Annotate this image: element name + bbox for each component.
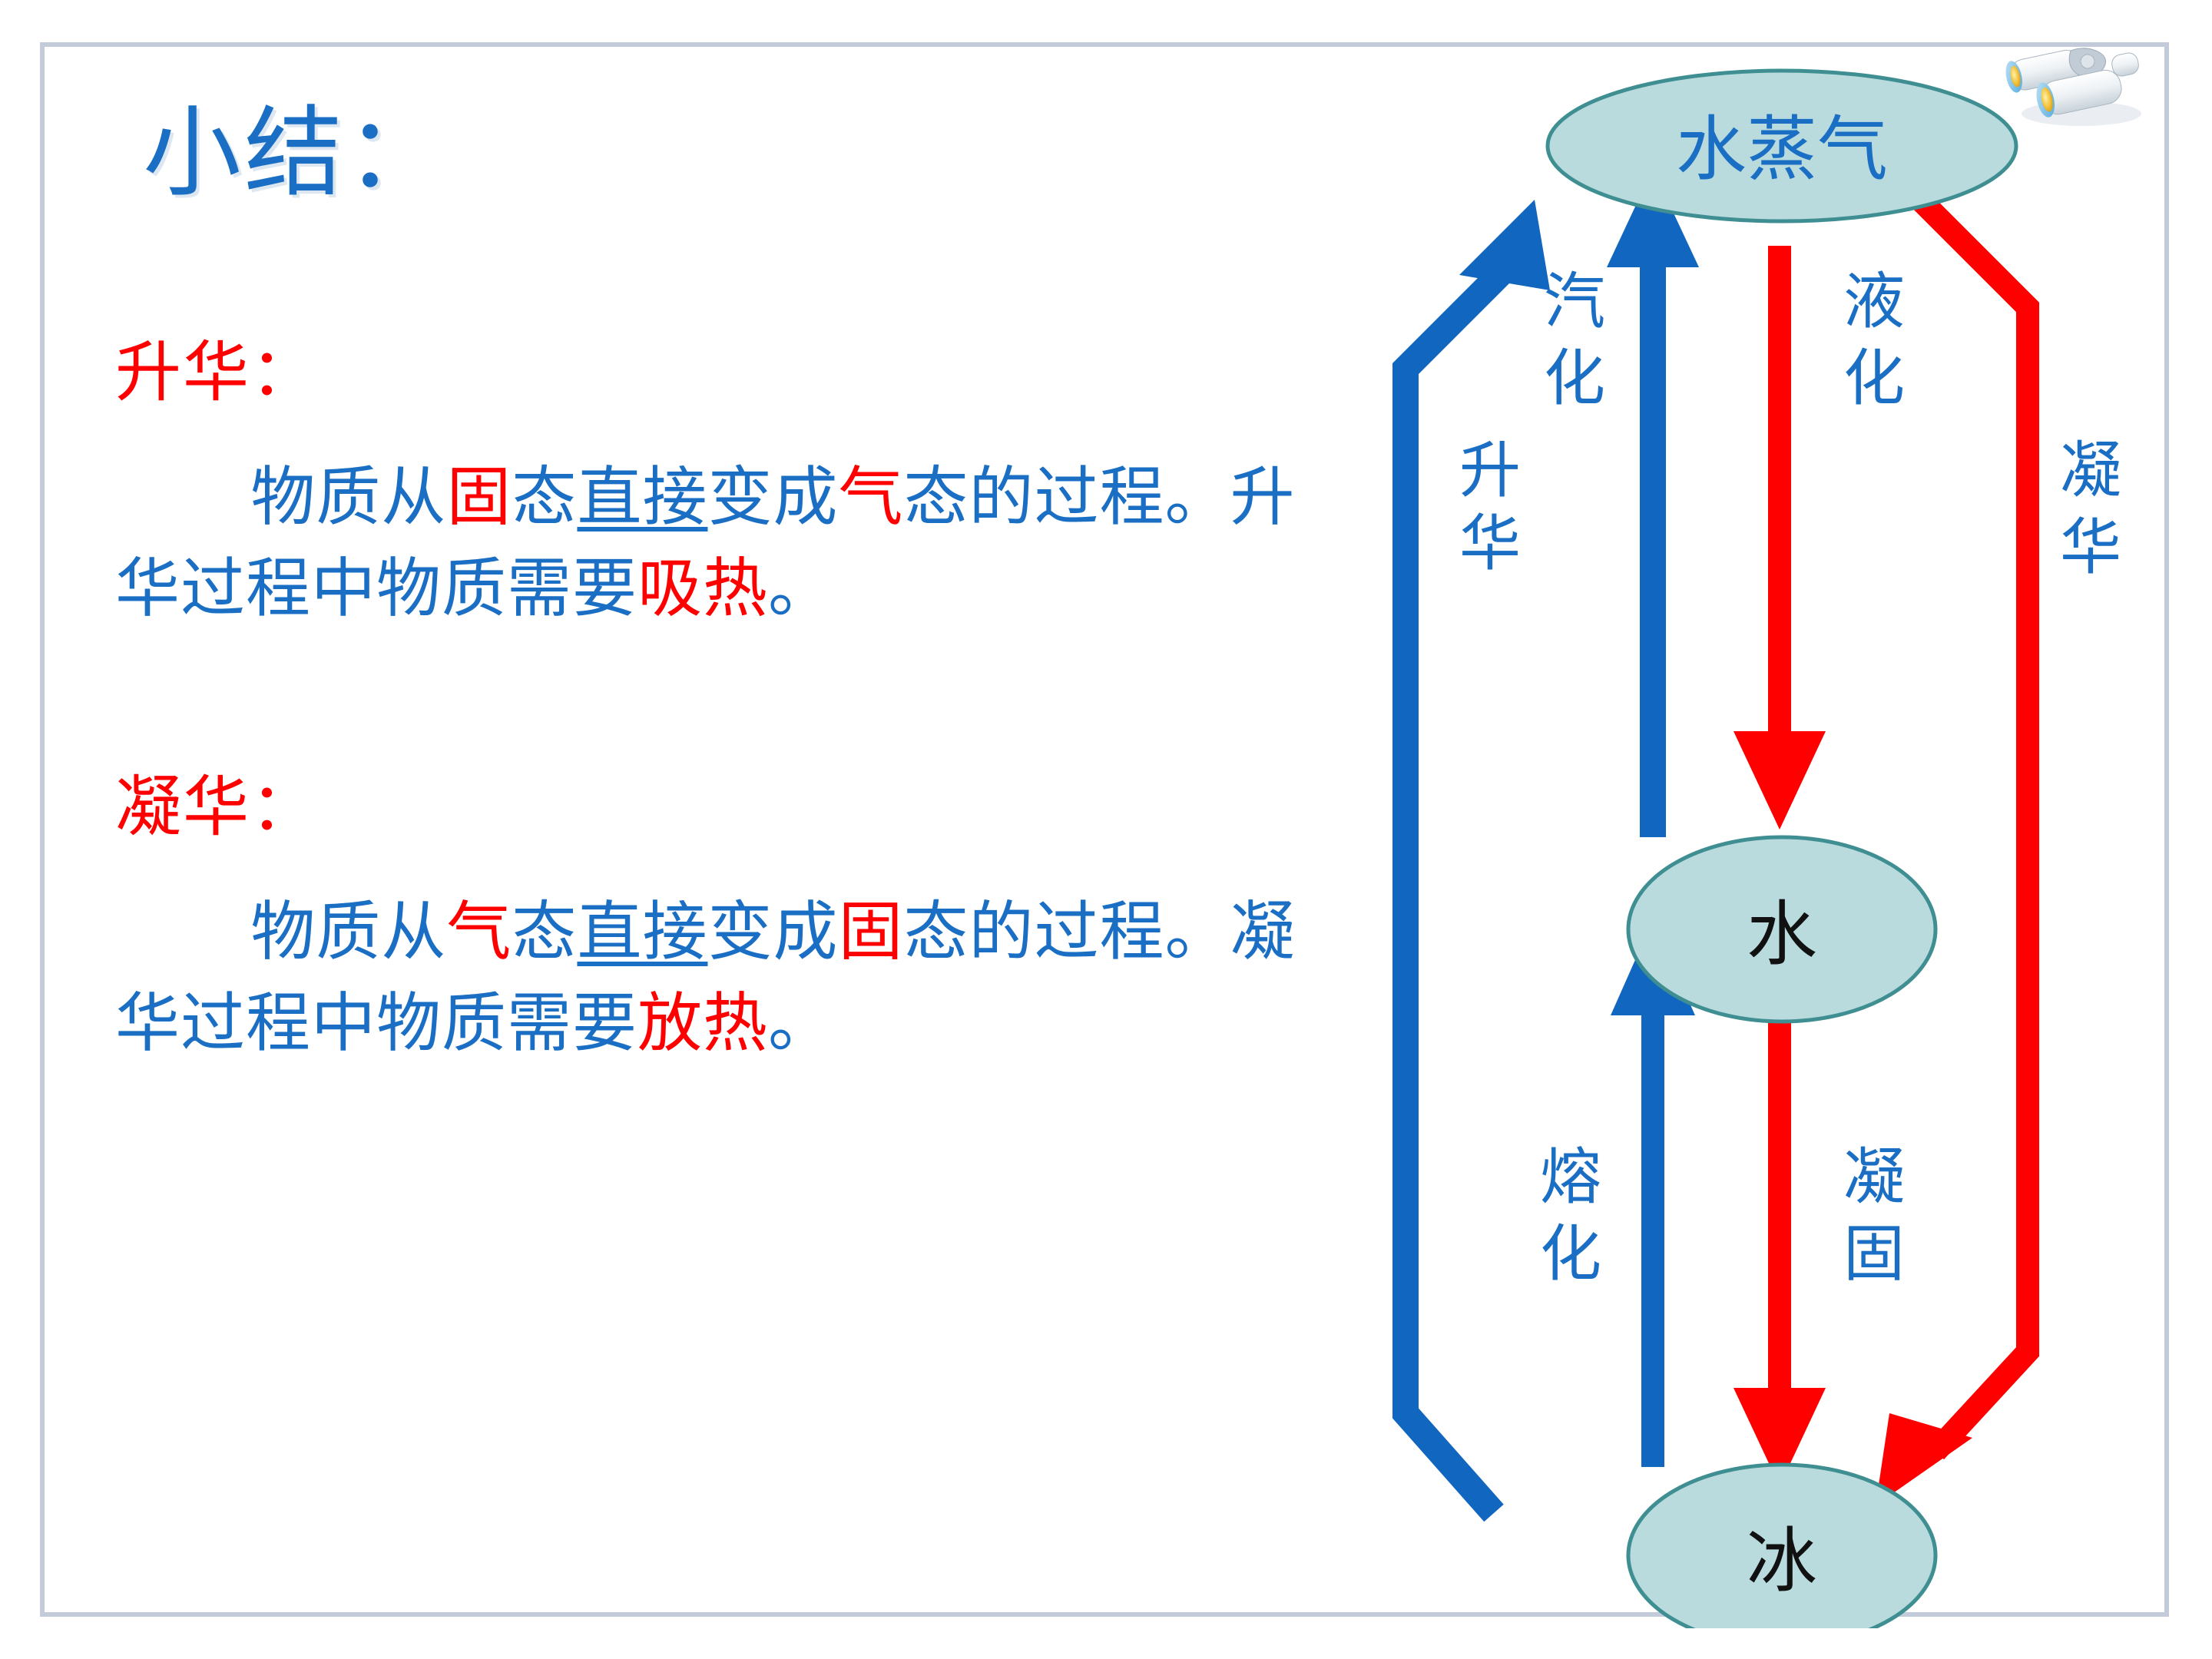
edge-label-deposition-char2: 华 [2060, 512, 2121, 583]
edge-label-melting-char1: 熔 [1540, 1141, 1601, 1213]
edge-label-solidification: 凝 固 [1843, 1141, 1905, 1290]
text-content-column: 小结： 升华： 物质从固态直接变成气态的过程。升华过程中物质需要吸热。 凝华： … [115, 92, 1359, 1070]
text-run: 直接 [577, 459, 707, 535]
slide-canvas: 小结： 升华： 物质从固态直接变成气态的过程。升华过程中物质需要吸热。 凝华： … [0, 0, 2212, 1659]
edge-label-liquefaction-char2: 化 [1843, 343, 1905, 414]
edge-label-deposition-char1: 凝 [2060, 435, 2121, 506]
arrow-liquefaction [1734, 246, 1826, 829]
binoculars-icon [1997, 31, 2154, 131]
section-sublimation: 升华： 物质从固态直接变成气态的过程。升华过程中物质需要吸热。 [115, 330, 1359, 634]
node-label-ice: 冰 [1747, 1520, 1817, 1602]
edge-label-vaporization-char2: 化 [1544, 343, 1605, 414]
edge-label-sublimation: 升 华 [1459, 435, 1521, 579]
edge-label-sublimation-char2: 华 [1459, 508, 1521, 579]
edge-label-melting: 熔 化 [1540, 1141, 1601, 1290]
edge-label-melting-char2: 化 [1540, 1218, 1601, 1290]
arrow-melting [1611, 920, 1695, 1467]
text-run: 物质从 [250, 459, 446, 535]
text-run: 吸热 [637, 551, 768, 626]
text-run: 变成 [707, 459, 838, 535]
edge-label-liquefaction: 液 化 [1843, 266, 1905, 414]
node-label-water-vapor: 水蒸气 [1676, 108, 1888, 190]
node-water[interactable]: 水 [1628, 837, 1936, 1022]
text-run: 放热 [637, 985, 768, 1061]
text-run: 物质从 [250, 894, 446, 969]
edge-label-solidification-char1: 凝 [1843, 1141, 1905, 1213]
node-water-vapor[interactable]: 水蒸气 [1548, 71, 2016, 221]
edge-label-vaporization-char1: 汽 [1544, 266, 1605, 337]
section-body-sublimation: 物质从固态直接变成气态的过程。升华过程中物质需要吸热。 [115, 452, 1359, 635]
section-deposition: 凝华： 物质从气态直接变成固态的过程。凝华过程中物质需要放热。 [115, 765, 1359, 1069]
arrow-solidification [1734, 1022, 1826, 1486]
edge-label-sublimation-char1: 升 [1459, 435, 1521, 506]
text-run: 气 [446, 894, 512, 969]
text-run: 态 [512, 894, 577, 969]
text-run: 气 [838, 459, 903, 535]
page-title: 小结： [143, 92, 1359, 215]
arrow-vaporization [1607, 169, 1699, 837]
section-body-deposition: 物质从气态直接变成固态的过程。凝华过程中物质需要放热。 [115, 886, 1359, 1070]
phase-change-diagram: 水蒸气 水 冰 升 华 汽 化 [1306, 61, 2174, 1628]
text-run: 变成 [707, 894, 838, 969]
text-run: 直接 [577, 894, 707, 969]
text-run: 。 [768, 985, 833, 1061]
edge-label-vaporization: 汽 化 [1544, 266, 1605, 414]
text-run: 固 [446, 459, 512, 535]
text-run: 固 [838, 894, 903, 969]
edge-label-solidification-char2: 固 [1843, 1218, 1905, 1290]
edge-label-deposition: 凝 华 [2060, 435, 2121, 583]
node-label-water: 水 [1747, 893, 1817, 975]
section-heading-sublimation: 升华： [115, 330, 1359, 416]
section-heading-deposition: 凝华： [115, 765, 1359, 851]
edge-label-liquefaction-char1: 液 [1843, 266, 1905, 337]
text-run: 态 [512, 459, 577, 535]
node-ice[interactable]: 冰 [1628, 1465, 1936, 1628]
text-run: 。 [768, 551, 833, 626]
